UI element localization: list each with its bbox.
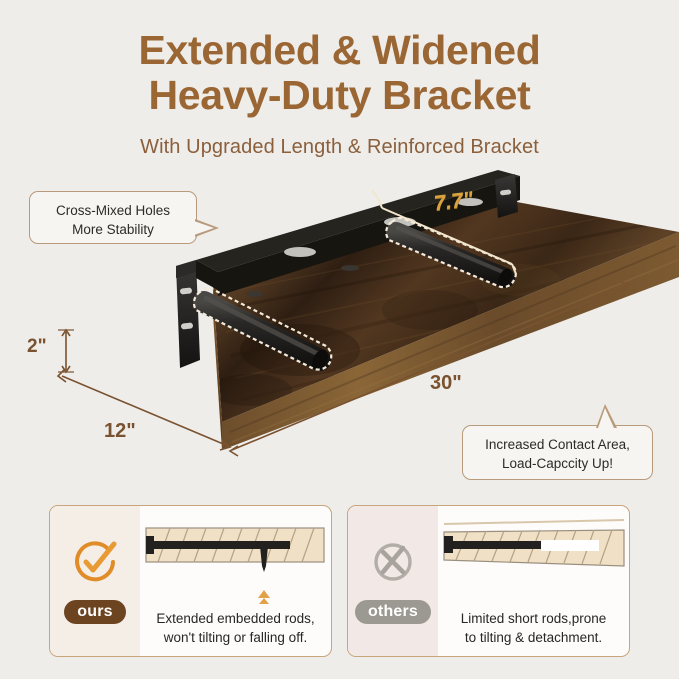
dimension-label-bracket-rod: 7.7" (433, 188, 475, 217)
embedded-rod (150, 541, 290, 549)
upward-arrows (258, 590, 270, 604)
dimension-label-thickness: 2" (27, 336, 47, 358)
card-others-caption-line2: to tilting & detachment. (465, 630, 602, 645)
callout-holes-tail-inner (194, 221, 214, 235)
callout-contact-line2: Load-Capccity Up! (502, 456, 613, 471)
bracket-right (495, 174, 518, 218)
x-circle-icon (369, 538, 417, 586)
dimension-label-length: 30" (430, 372, 462, 395)
check-circle-icon (71, 538, 119, 586)
diagram-others (438, 510, 630, 606)
card-others-caption-line1: Limited short rods,prone (461, 611, 607, 626)
diagram-ours (140, 510, 332, 606)
callout-cross-mixed-holes: Cross-Mixed Holes More Stability (29, 191, 197, 244)
card-ours-right-panel: Extended embedded rods, won't tilting or… (140, 506, 331, 656)
comparison-card-others: others Limited short rods,prone to tilti… (347, 505, 630, 657)
short-rod (449, 541, 541, 549)
dimension-label-depth: 12" (104, 420, 136, 443)
callout-holes-line1: Cross-Mixed Holes (56, 203, 170, 218)
badge-ours: ours (64, 600, 125, 624)
callout-contact-line1: Increased Contact Area, (485, 437, 630, 452)
infographic-canvas: Extended & Widened Heavy-Duty Bracket Wi… (0, 0, 679, 679)
card-others-left-panel: others (348, 506, 438, 656)
page-title: Extended & Widened Heavy-Duty Bracket (0, 28, 679, 118)
card-ours-caption-line1: Extended embedded rods, (156, 611, 314, 626)
callout-contact-tail-inner (598, 408, 614, 428)
badge-others: others (355, 600, 431, 624)
card-others-caption: Limited short rods,prone to tilting & de… (438, 609, 629, 647)
title-line-1: Extended & Widened (139, 27, 541, 73)
card-others-right-panel: Limited short rods,prone to tilting & de… (438, 506, 629, 656)
comparison-card-ours: ours Extended embedded rods, (49, 505, 332, 657)
tilt-reference-line (444, 520, 624, 524)
callout-holes-line2: More Stability (72, 222, 154, 237)
card-ours-caption-line2: won't tilting or falling off. (164, 630, 307, 645)
callout-increased-contact-area: Increased Contact Area, Load-Capccity Up… (462, 425, 653, 480)
page-subtitle: With Upgraded Length & Reinforced Bracke… (0, 136, 679, 159)
empty-cavity (541, 540, 599, 551)
card-ours-left-panel: ours (50, 506, 140, 656)
title-line-2: Heavy-Duty Bracket (0, 73, 679, 118)
card-ours-caption: Extended embedded rods, won't tilting or… (140, 609, 331, 647)
